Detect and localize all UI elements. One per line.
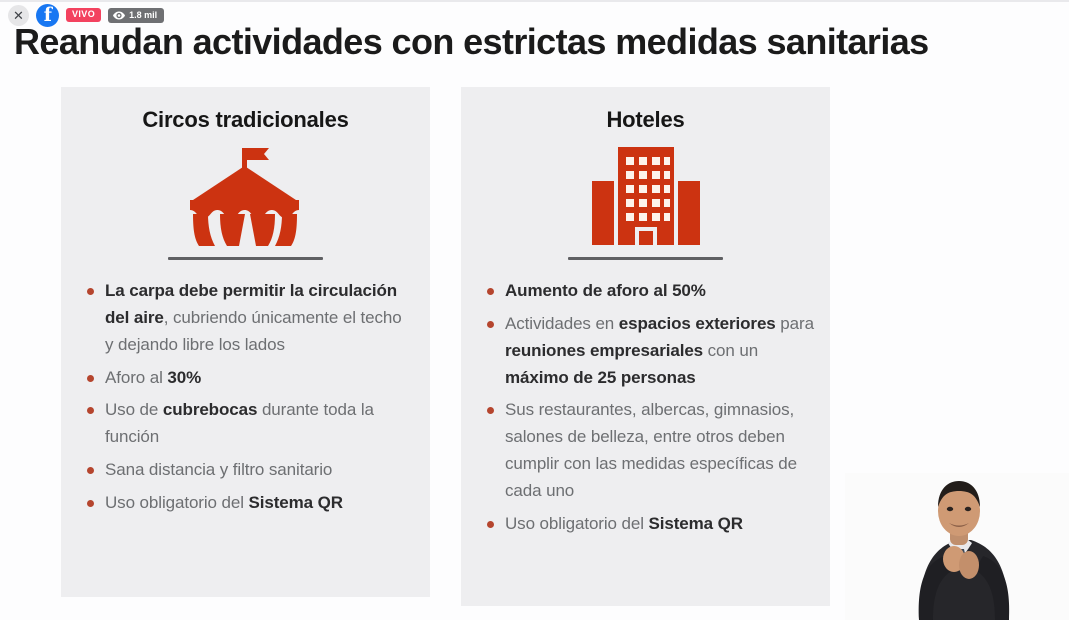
list-item: Sus restaurantes, albercas, gimnasios, s… (483, 397, 814, 504)
list-item-text: Uso obligatorio del (505, 514, 649, 533)
info-card-hoteles: Hoteles (461, 87, 830, 606)
list-item-text: Sus restaurantes, albercas, gimnasios, s… (505, 400, 797, 500)
list-item-emphasis: Sistema QR (649, 514, 743, 533)
measures-list: Aumento de aforo al 50%Actividades en es… (461, 278, 830, 538)
close-glyph: ✕ (13, 9, 24, 22)
card-divider (568, 257, 723, 260)
list-item-text: Aforo al (105, 368, 167, 387)
list-item-emphasis: Aumento de aforo al 50% (505, 281, 706, 300)
close-icon[interactable]: ✕ (8, 5, 29, 26)
circus-tent-icon (61, 141, 430, 251)
broadcast-stage: ✕ VIVO 1.8 mil Reanudan actividades con … (0, 0, 1069, 620)
list-item-text: para (776, 314, 814, 333)
list-item: Aumento de aforo al 50% (483, 278, 814, 305)
live-overlay-bar: ✕ VIVO 1.8 mil (0, 0, 1069, 30)
list-item-emphasis: reuniones empresariales (505, 341, 703, 360)
list-item: Uso obligatorio del Sistema QR (83, 490, 414, 517)
interpreter-figure (845, 473, 1069, 620)
sign-language-interpreter-video[interactable] (845, 473, 1069, 620)
facebook-logo-icon[interactable] (36, 4, 59, 27)
list-item: Uso de cubrebocas durante toda la funció… (83, 397, 414, 451)
card-divider (168, 257, 323, 260)
hotel-building-icon (461, 141, 830, 251)
list-item-text: Sana distancia y filtro sanitario (105, 460, 332, 479)
card-title: Circos tradicionales (61, 107, 430, 133)
list-item-text: Uso obligatorio del (105, 493, 249, 512)
list-item-text: Uso de (105, 400, 163, 419)
list-item: Actividades en espacios exteriores para … (483, 311, 814, 392)
list-item-emphasis: cubrebocas (163, 400, 257, 419)
list-item-emphasis: máximo de 25 personas (505, 368, 696, 387)
live-badge: VIVO (66, 8, 101, 22)
list-item-emphasis: espacios exteriores (619, 314, 776, 333)
viewer-count-label: 1.8 mil (129, 11, 157, 20)
list-item: Aforo al 30% (83, 365, 414, 392)
top-edge-line (0, 0, 1069, 2)
eye-icon (113, 11, 125, 20)
list-item-text: Actividades en (505, 314, 619, 333)
list-item: Sana distancia y filtro sanitario (83, 457, 414, 484)
viewer-count-badge: 1.8 mil (108, 8, 164, 23)
list-item-emphasis: 30% (167, 368, 201, 387)
list-item: Uso obligatorio del Sistema QR (483, 511, 814, 538)
list-item-text: con un (703, 341, 758, 360)
card-title: Hoteles (461, 107, 830, 133)
info-card-circos: Circos tradicionales La carpa debe permi… (61, 87, 430, 597)
list-item-emphasis: Sistema QR (249, 493, 343, 512)
measures-list: La carpa debe permitir la circulación de… (61, 278, 430, 517)
list-item: La carpa debe permitir la circulación de… (83, 278, 414, 359)
